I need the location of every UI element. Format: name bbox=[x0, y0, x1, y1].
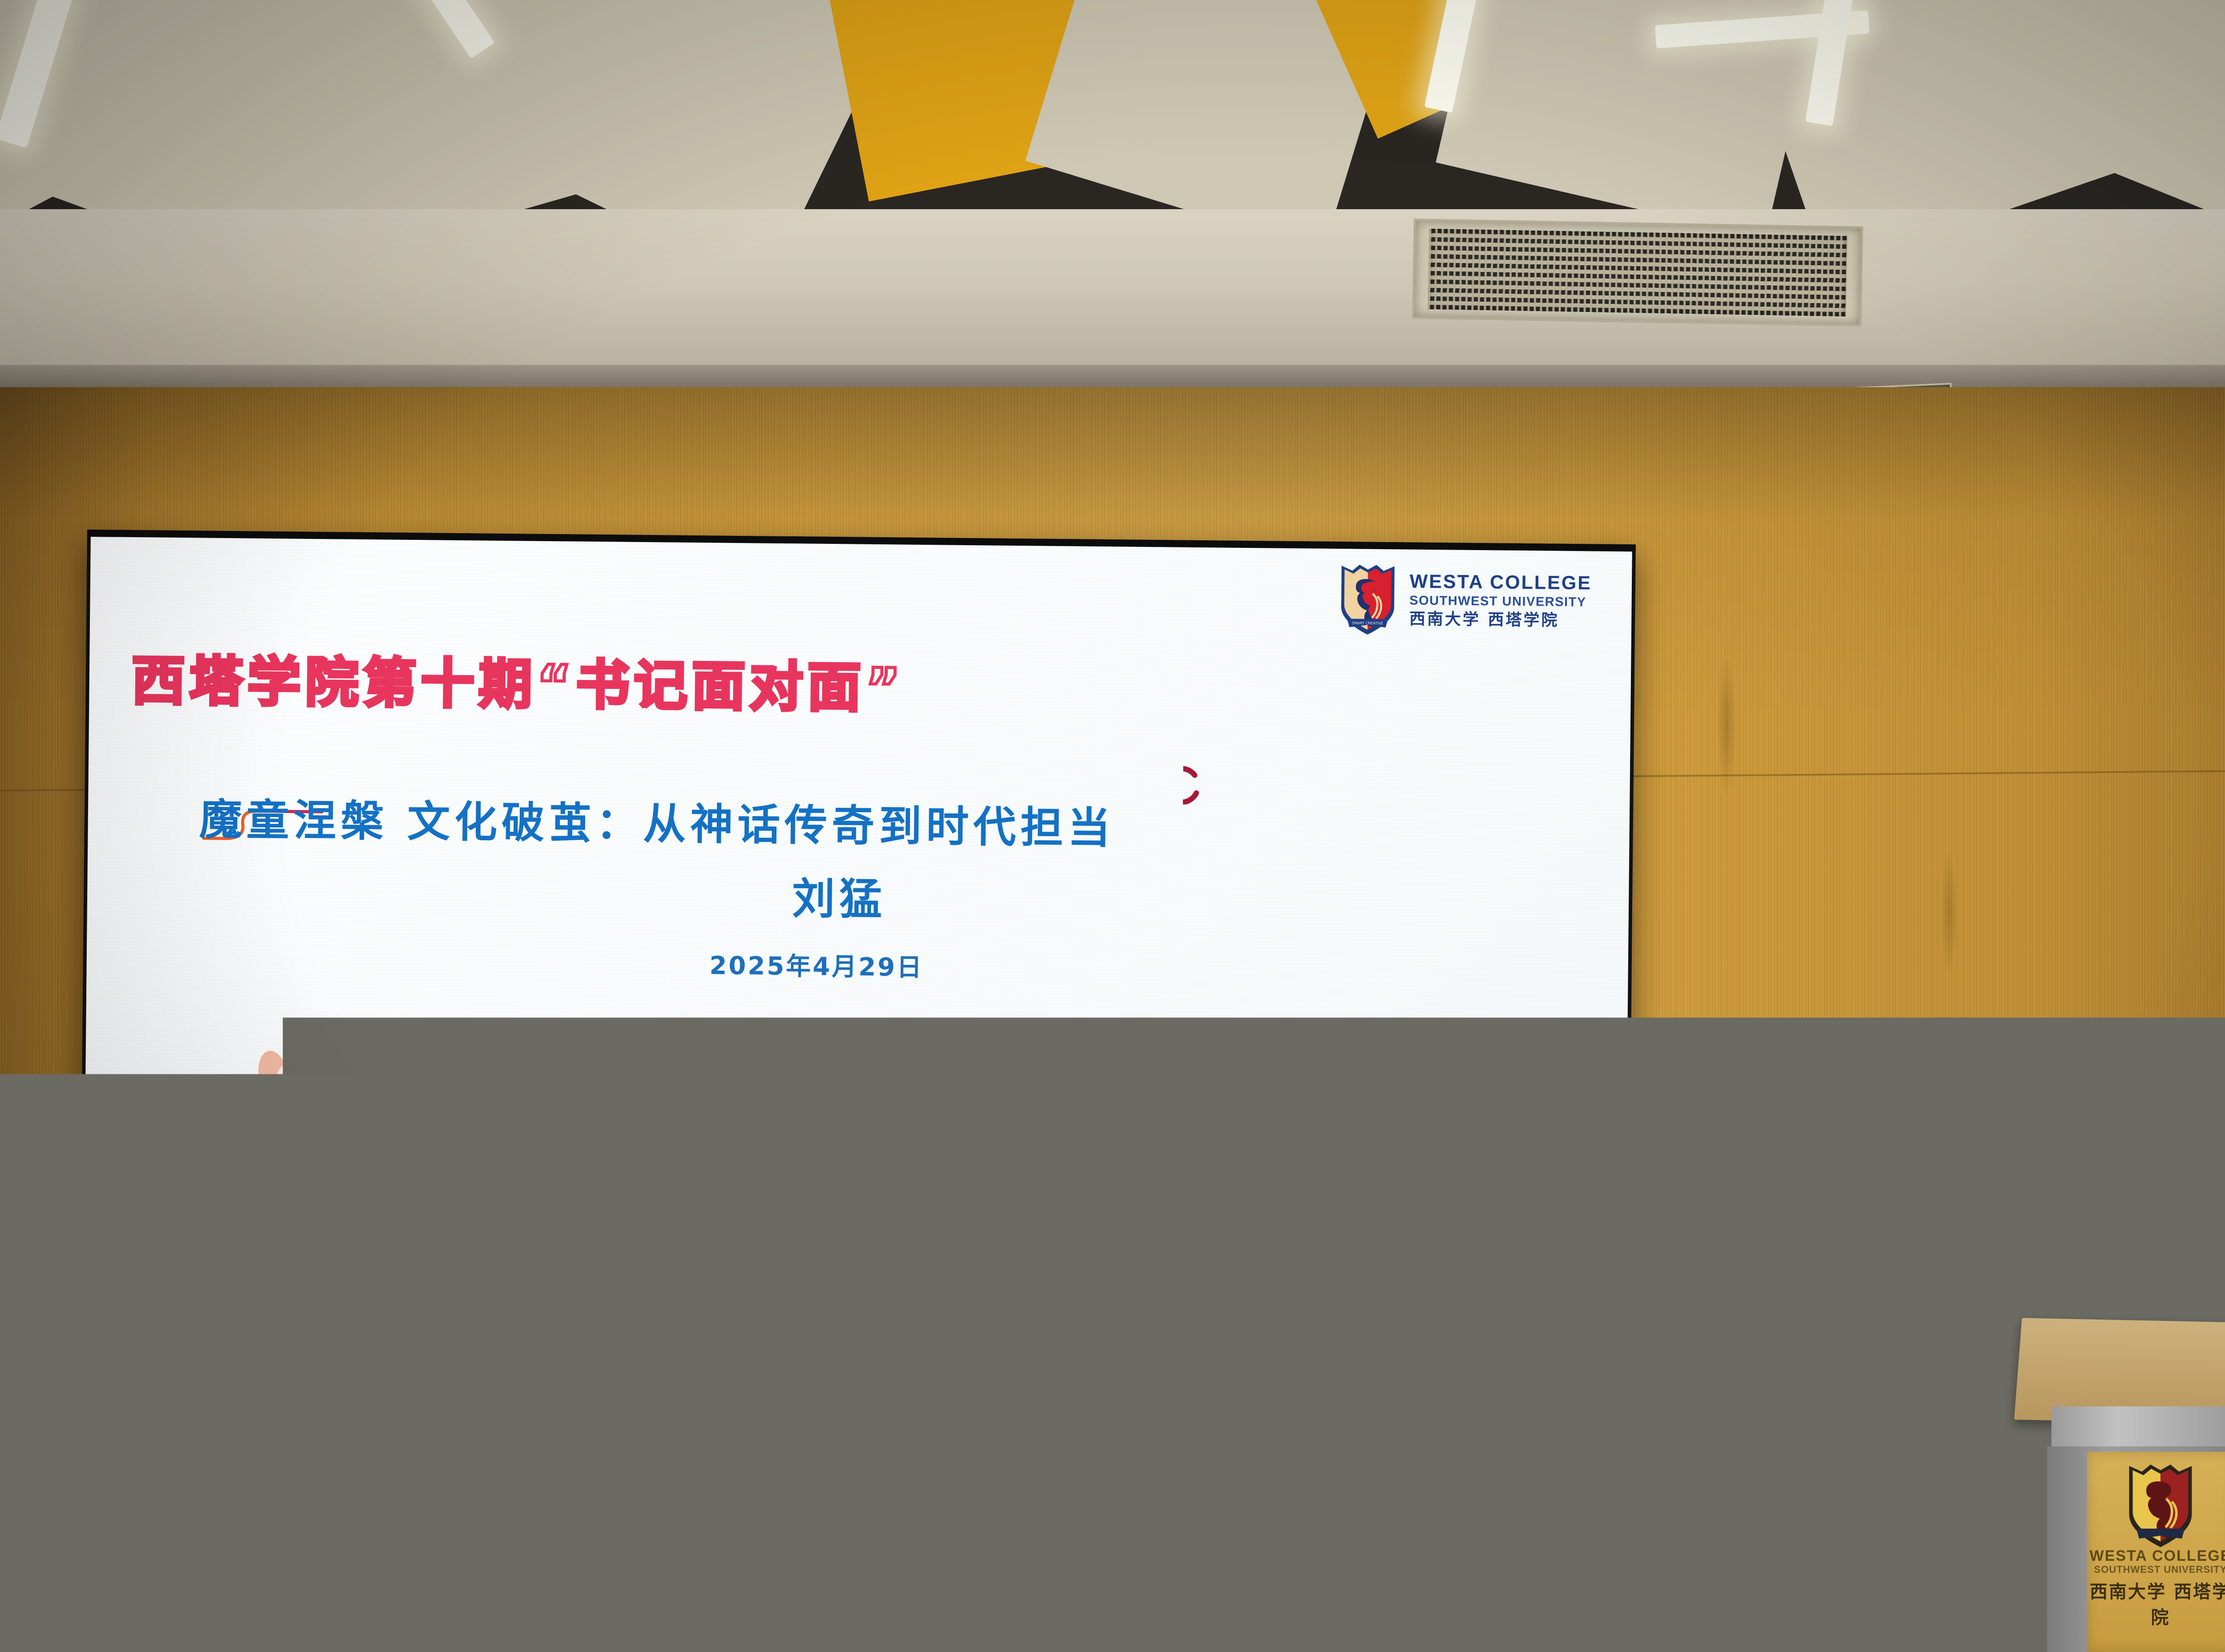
magnolia-branch-illustration bbox=[92, 982, 473, 1324]
swirl-right-icon bbox=[1282, 1033, 1403, 1088]
microphone-led bbox=[2173, 1179, 2180, 1186]
ceiling-soffit bbox=[0, 209, 2225, 369]
westa-crest-icon: SMART CREATIVE bbox=[1337, 562, 1399, 636]
logo-line-en-1: WESTA COLLEGE bbox=[1410, 572, 1592, 593]
hair bbox=[2135, 1027, 2225, 1080]
slide-surface: SMART CREATIVE WESTA COLLEGE SOUTHWEST U… bbox=[83, 537, 1632, 1349]
carpet-pattern bbox=[0, 1485, 2225, 1652]
logo-text: WESTA COLLEGE SOUTHWEST UNIVERSITY 西南大学 … bbox=[1409, 572, 1592, 629]
soundbar-vent bbox=[676, 1367, 701, 1379]
carpet-floor bbox=[0, 1485, 2225, 1652]
svg-text:SMART CREATIVE: SMART CREATIVE bbox=[1352, 621, 1383, 626]
mouth bbox=[2172, 1115, 2199, 1123]
slide-logo: SMART CREATIVE WESTA COLLEGE SOUTHWEST U… bbox=[1337, 562, 1592, 638]
podium-branding-plate: WESTA COLLEGE SOUTHWEST UNIVERSITY 西南大学 … bbox=[2087, 1452, 2225, 1652]
slide-title: 西塔学院第十期“书记面对面” bbox=[131, 637, 889, 722]
podium-plate-cn: 西南大学 西塔学院 bbox=[2087, 1577, 2225, 1629]
projection-display[interactable]: SMART CREATIVE WESTA COLLEGE SOUTHWEST U… bbox=[79, 530, 1635, 1408]
photo-scene: SMART CREATIVE WESTA COLLEGE SOUTHWEST U… bbox=[0, 0, 2225, 1652]
westa-crest-icon bbox=[2125, 1462, 2196, 1551]
podium-plate-en-1: WESTA COLLEGE bbox=[2087, 1547, 2225, 1565]
logo-line-cn: 西南大学 西塔学院 bbox=[1409, 611, 1592, 629]
slide-subtitle: 魔童涅槃 文化破茧：从神话传奇到时代担当 bbox=[199, 785, 1445, 858]
podium-plate-en-2: SOUTHWEST UNIVERSITY bbox=[2087, 1564, 2225, 1575]
hvac-return-grille bbox=[1412, 219, 1863, 327]
grille-grid bbox=[1428, 229, 1847, 316]
eyeglasses bbox=[2143, 1078, 2225, 1098]
display-knob[interactable] bbox=[110, 1345, 122, 1357]
paper-sheet bbox=[2087, 1237, 2200, 1292]
power-led-icon bbox=[94, 1346, 101, 1355]
logo-line-en-2: SOUTHWEST UNIVERSITY bbox=[1409, 594, 1592, 609]
